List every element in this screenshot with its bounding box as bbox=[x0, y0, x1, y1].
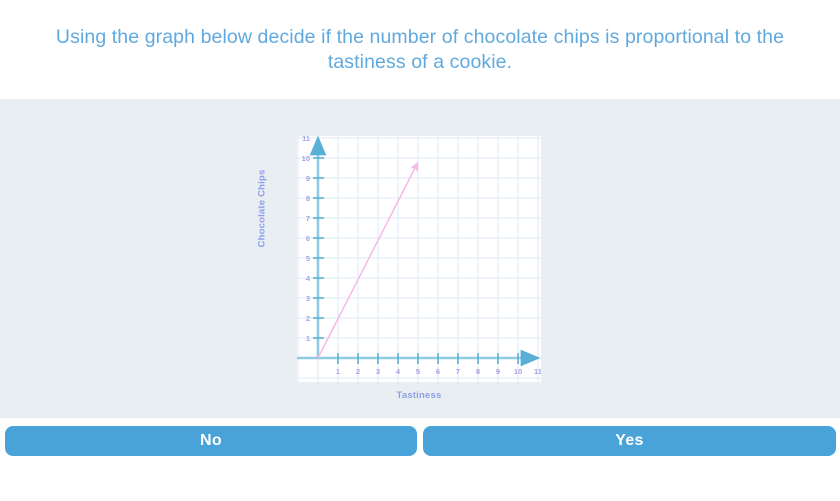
answer-button-yes[interactable]: Yes bbox=[423, 426, 836, 456]
y-axis-title: Chocolate Chips bbox=[257, 149, 268, 269]
y-tick-label: 10 bbox=[302, 154, 310, 163]
page-title: Using the graph below decide if the numb… bbox=[25, 25, 815, 75]
x-tick-label: 5 bbox=[416, 367, 420, 376]
y-tick-label: 6 bbox=[306, 234, 310, 243]
x-tick-labels: 1 2 3 4 5 6 7 8 9 10 11 bbox=[336, 367, 541, 376]
x-tick-label: 9 bbox=[496, 367, 500, 376]
x-tick-label: 10 bbox=[514, 367, 522, 376]
x-tick-label: 8 bbox=[476, 367, 480, 376]
y-tick-label: 1 bbox=[306, 334, 310, 343]
y-tick-label: 8 bbox=[306, 194, 310, 203]
answer-button-no[interactable]: No bbox=[5, 426, 417, 456]
y-tick-label: 9 bbox=[306, 174, 310, 183]
coordinate-graph: Chocolate Chips bbox=[232, 129, 552, 414]
plot-area: 1 2 3 4 5 6 7 8 9 10 11 bbox=[297, 136, 541, 382]
x-tick-label: 11 bbox=[534, 367, 541, 376]
x-tick-label: 4 bbox=[396, 367, 401, 376]
y-tick-label: 11 bbox=[302, 136, 310, 143]
x-axis-title: Tastiness bbox=[297, 390, 541, 401]
x-tick-label: 6 bbox=[436, 367, 440, 376]
answer-choices: No Yes bbox=[0, 418, 840, 501]
graph-content-panel: Chocolate Chips bbox=[0, 99, 840, 418]
proportional-ray bbox=[318, 166, 416, 358]
grid-lines bbox=[297, 136, 541, 382]
x-tick-label: 2 bbox=[356, 367, 360, 376]
y-tick-label: 5 bbox=[306, 254, 310, 263]
x-tick-label: 1 bbox=[336, 367, 340, 376]
x-tick-label: 7 bbox=[456, 367, 460, 376]
y-tick-label: 7 bbox=[306, 214, 310, 223]
proportional-line-series bbox=[318, 166, 416, 358]
y-tick-label: 2 bbox=[306, 314, 310, 323]
question-header: Using the graph below decide if the numb… bbox=[0, 0, 840, 99]
y-tick-labels: 1 2 3 4 5 6 7 8 9 10 11 bbox=[302, 136, 311, 343]
y-tick-label: 3 bbox=[306, 294, 310, 303]
plot-svg: 1 2 3 4 5 6 7 8 9 10 11 bbox=[297, 136, 541, 382]
x-tick-label: 3 bbox=[376, 367, 380, 376]
